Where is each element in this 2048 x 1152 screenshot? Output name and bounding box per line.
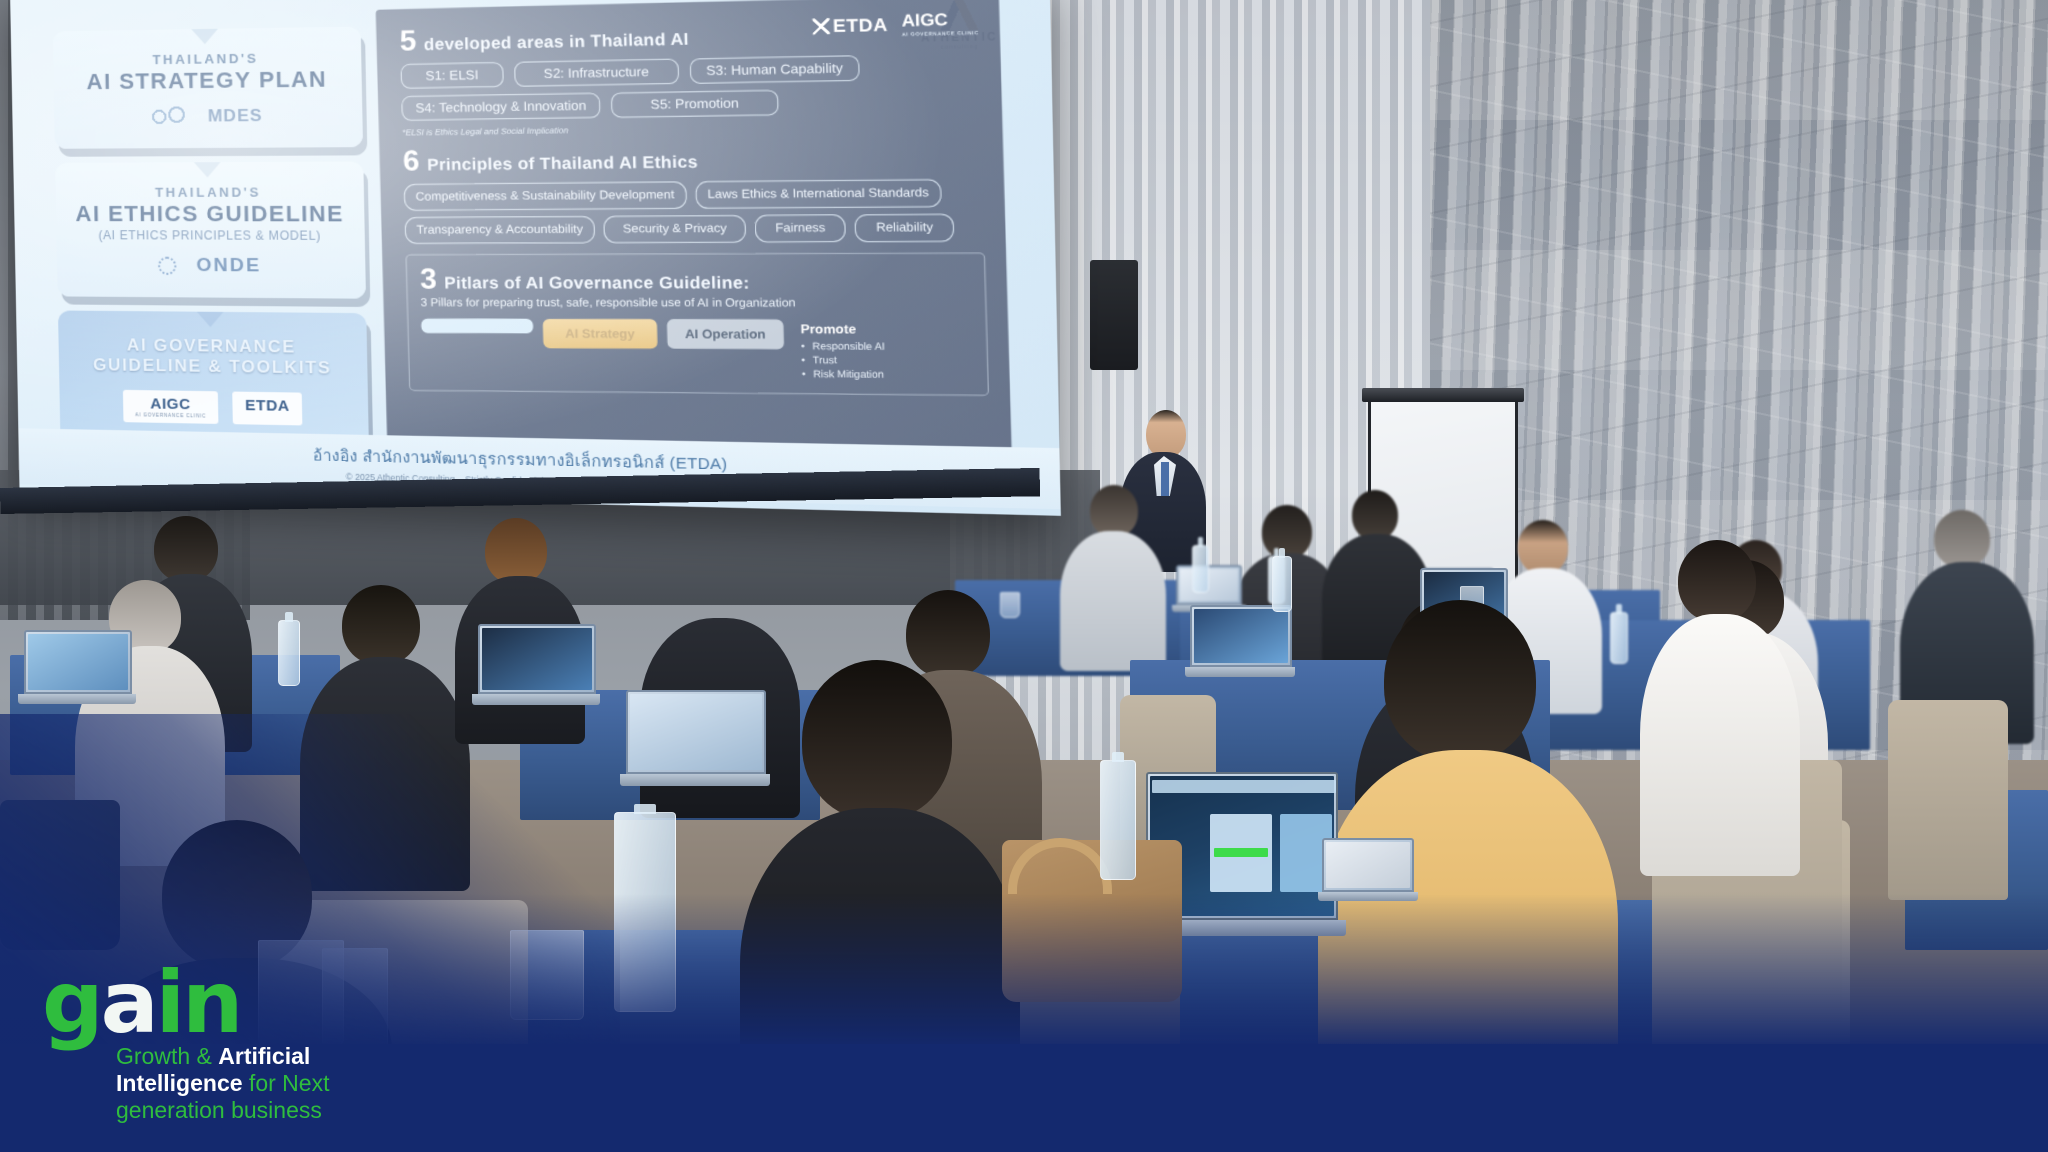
etda-partner-text: ETDA <box>833 14 888 36</box>
card-logos: MDES <box>68 104 348 129</box>
water-bottle-far-1 <box>1192 545 1209 593</box>
card-title: AI GOVERNANCE GUIDELINE & TOOLKITS <box>72 334 352 379</box>
chip-s4: S4: Technology & Innovation <box>401 93 601 121</box>
promote-heading: Promote <box>800 322 856 337</box>
card-logos: ONDE <box>71 254 351 278</box>
gain-letter-g: g <box>42 953 101 1053</box>
aigc-partner-logo: AIGC AI GOVERNANCE CLINIC <box>901 11 979 38</box>
laptop-lid <box>1322 838 1414 892</box>
chip-s2: S2: Infrastructure <box>514 59 679 87</box>
water-bottle-front-2 <box>1100 760 1136 880</box>
nstda-mark-icon <box>150 105 191 128</box>
gain-letter-a: a <box>101 953 156 1053</box>
attendee-head <box>1678 540 1756 622</box>
card-logos: AIGC AI GOVERNANCE CLINIC ETDA <box>74 389 354 426</box>
card-kicker: THAILAND'S <box>70 184 350 200</box>
laptop-screen <box>1180 569 1238 601</box>
attendee-head <box>1518 520 1568 574</box>
section-ethics-principles: 6 Principles of Thailand AI Ethics Compe… <box>403 141 985 244</box>
slide-left-column: THAILAND'S AI STRATEGY PLAN MDES THAILAN… <box>53 27 369 450</box>
laptop-base <box>18 694 136 704</box>
developed-areas-chips: S1: ELSI S2: Infrastructure S3: Human Ca… <box>400 53 981 121</box>
attendee-head <box>342 585 420 665</box>
presenter-head <box>1146 410 1186 458</box>
chip-competitiveness: Competitiveness & Sustainability Develop… <box>404 181 687 210</box>
partner-logos: ETDA AIGC AI GOVERNANCE CLINIC <box>812 11 979 39</box>
section-title: developed areas in Thailand AI <box>424 31 689 55</box>
loudspeaker <box>1090 260 1138 370</box>
attendee-head <box>154 516 218 582</box>
laptop-lid <box>1190 605 1292 667</box>
chip-fairness: Fairness <box>755 214 847 242</box>
attendee-head <box>678 548 752 626</box>
section-header: 3 Pitlars of AI Governance Guideline: <box>420 265 971 294</box>
card-title: AI ETHICS GUIDELINE <box>70 202 350 226</box>
gain-tagline: Growth & Artificial Intelligence for Nex… <box>116 1043 472 1124</box>
attendee-torso <box>1060 531 1166 671</box>
section-number: 6 <box>403 148 420 174</box>
tagline-artificial: Artificial <box>218 1043 310 1069</box>
laptop-base <box>472 694 600 705</box>
card-ai-strategy-plan: THAILAND'S AI STRATEGY PLAN MDES <box>53 27 363 149</box>
laptop-mid-4 <box>1185 605 1295 681</box>
slide-content: THAILAND'S AI STRATEGY PLAN MDES THAILAN… <box>10 0 1061 516</box>
attendee-front-4 <box>1640 540 1800 870</box>
tagline-intelligence: Intelligence <box>116 1070 243 1096</box>
section-number: 3 <box>420 266 437 292</box>
section-governance-pillars: 3 Pitlars of AI Governance Guideline: 3 … <box>406 253 990 396</box>
etda-glyph-icon <box>812 18 830 34</box>
pillars-subtitle: 3 Pillars for preparing trust, safe, res… <box>420 297 971 310</box>
attendee-head <box>802 660 952 820</box>
mdes-logo: MDES <box>208 105 263 126</box>
etda-logo-text: ETDA <box>245 397 290 415</box>
onde-logo: ONDE <box>196 254 261 277</box>
laptop-lid <box>1176 565 1242 605</box>
attendee-head <box>485 518 547 584</box>
tagline-growth: Growth & <box>116 1043 218 1069</box>
aigc-logo: AIGC AI GOVERNANCE CLINIC <box>123 390 219 424</box>
water-bottle-mid-2 <box>1272 556 1292 612</box>
section-number: 5 <box>399 27 416 53</box>
laptop-lid <box>24 630 132 694</box>
attendee-head <box>1262 505 1312 559</box>
screenshot-root: 99 ATHENTIC consulting THAILAND'S AI STR… <box>0 0 2048 1152</box>
etda-partner-logo: ETDA <box>812 14 888 37</box>
attendee-head <box>1934 510 1990 568</box>
laptop-screen <box>1194 609 1288 663</box>
chip-s5: S5: Promotion <box>611 90 779 118</box>
promote-block: Promote Responsible AI Trust Risk Mitiga… <box>800 319 886 381</box>
laptop-base <box>1185 667 1295 677</box>
gain-tagline-line-1: Growth & Artificial <box>116 1043 472 1070</box>
aigc-logo-text: AIGC <box>150 396 191 414</box>
laptop-screen <box>1326 842 1410 888</box>
laptop-screen <box>482 628 592 690</box>
gain-tagline-line-2: Intelligence for Next <box>116 1070 472 1097</box>
attendee-head <box>1352 490 1398 540</box>
chip-laws-ethics: Laws Ethics & International Standards <box>695 179 942 209</box>
onde-dots-icon <box>157 256 176 274</box>
card-ai-governance-toolkits: AI GOVERNANCE GUIDELINE & TOOLKITS AIGC … <box>58 310 369 450</box>
water-bottle-mid-1 <box>278 620 300 686</box>
promote-item-responsible-ai: Responsible AI <box>801 341 885 353</box>
laptop-screen-topbar <box>1152 780 1336 793</box>
laptop-screen-accent-text <box>1214 848 1268 857</box>
projected-slide: 99 ATHENTIC consulting THAILAND'S AI STR… <box>10 0 1061 516</box>
chip-s3: S3: Human Capability <box>690 55 860 84</box>
laptop-lid <box>478 624 596 694</box>
gain-letters-in: in <box>156 953 241 1053</box>
attendee-far-1 <box>1060 485 1166 665</box>
laptop-screen <box>28 634 128 690</box>
pillar-button-1 <box>421 319 533 334</box>
pillar-button-ai-operation: AI Operation <box>667 319 784 349</box>
promote-item-risk-mitigation: Risk Mitigation <box>802 369 886 381</box>
aigc-logo-sub: AI GOVERNANCE CLINIC <box>135 413 206 419</box>
laptop-mid-2 <box>472 624 600 708</box>
section-title: Principles of Thailand AI Ethics <box>427 154 698 176</box>
card-title: AI STRATEGY PLAN <box>67 67 347 94</box>
card-ai-ethics-guideline: THAILAND'S AI ETHICS GUIDELINE (AI ETHIC… <box>55 161 366 298</box>
gain-wordmark: gain <box>42 968 472 1039</box>
flipchart-clamp <box>1362 388 1524 402</box>
card-subtitle: (AI ETHICS PRINCIPLES & MODEL) <box>70 228 350 243</box>
pillar-button-ai-strategy: AI Strategy <box>543 319 658 349</box>
pillars-buttons-row: AI Strategy AI Operation Promote Respons… <box>421 319 973 382</box>
etda-logo: ETDA <box>233 392 303 426</box>
tagline-for-next: for Next <box>243 1070 330 1096</box>
slide-right-panel: ETDA AIGC AI GOVERNANCE CLINIC 5 develop… <box>376 0 1012 462</box>
section-header: 6 Principles of Thailand AI Ethics <box>403 141 983 176</box>
chip-s1: S1: ELSI <box>400 62 503 89</box>
ethics-principles-chips: Competitiveness & Sustainability Develop… <box>404 179 985 244</box>
promote-item-trust: Trust <box>801 355 885 367</box>
chip-transparency: Transparency & Accountability <box>405 216 596 244</box>
attendee-head <box>1384 600 1536 762</box>
attendee-torso <box>1640 614 1800 876</box>
aigc-partner-text: AIGC <box>901 11 948 30</box>
projection-screen: 99 ATHENTIC consulting THAILAND'S AI STR… <box>10 0 1061 516</box>
gain-logo: gain Growth & Artificial Intelligence fo… <box>42 968 472 1124</box>
section-title: Pitlars of AI Governance Guideline: <box>444 275 750 294</box>
laptop-mid-1 <box>18 630 136 708</box>
chair-front-far-right <box>1888 700 2008 900</box>
chip-reliability: Reliability <box>855 214 955 243</box>
elsi-footnote: *ELSI is Ethics Legal and Social Implica… <box>402 120 981 137</box>
gain-tagline-line-3: generation business <box>116 1097 472 1124</box>
chip-security: Security & Privacy <box>604 215 747 243</box>
tagline-generation-business: generation business <box>116 1097 322 1123</box>
attendee-head <box>1090 485 1138 537</box>
